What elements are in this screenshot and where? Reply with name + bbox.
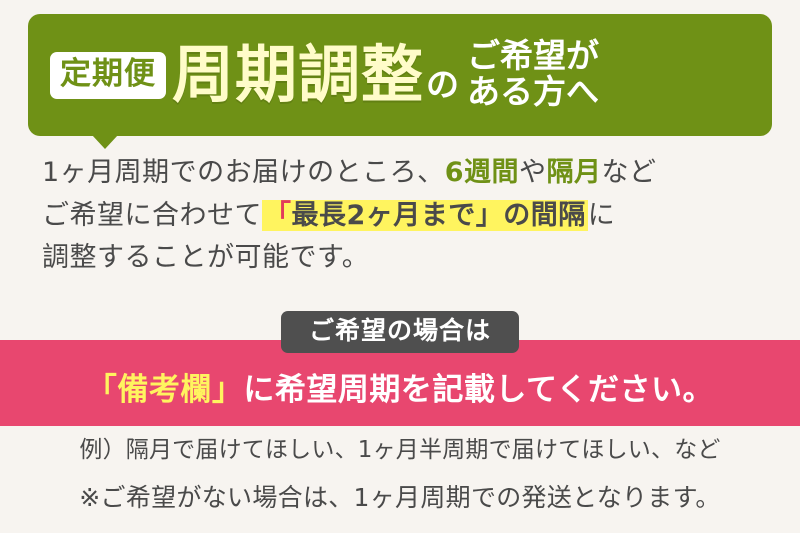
banner-subheadline-line1: ご希望が <box>467 38 599 74</box>
description-line-2: ご希望に合わせて「最長2ヶ月まで」の間隔に <box>42 195 772 238</box>
quote-open-mark: 「 <box>264 200 292 231</box>
description-line-1-a: 1ヶ月周期でのお届けのところ、 <box>42 157 445 188</box>
subscription-tag: 定期便 <box>50 52 166 99</box>
description-line-3: 調整することが可能です。 <box>42 237 772 280</box>
banner-headline: 周期調整 の <box>172 44 459 106</box>
description-highlight-6weeks: 6週間 <box>445 157 519 188</box>
pink-keyword-remarks: 備考欄 <box>117 372 212 408</box>
pink-instruction-text: 「備考欄」に希望周期を記載してください。 <box>0 364 800 409</box>
description-highlight-maxinterval: 「最長2ヶ月まで」の間隔 <box>262 200 588 231</box>
header-banner: 定期便 周期調整 の ご希望が ある方へ <box>28 14 772 136</box>
pink-quote-open: 「 <box>86 372 118 408</box>
banner-pointer-icon <box>92 135 118 149</box>
promo-banner-page: 定期便 周期調整 の ご希望が ある方へ 1ヶ月周期でのお届けのところ、6週間や… <box>0 0 800 533</box>
header-banner-body: 定期便 周期調整 の ご希望が ある方へ <box>28 14 772 136</box>
description-line-1-c: など <box>601 157 656 188</box>
pink-instruction-rest: に希望周期を記載してください。 <box>243 372 714 408</box>
banner-headline-main: 周期調整 <box>172 44 424 106</box>
description-highlight-bimonthly: 隔月 <box>546 157 601 188</box>
description-line-1-b: や <box>519 157 547 188</box>
description-line-2-a: ご希望に合わせて <box>42 200 262 231</box>
max-interval-text: 最長2ヶ月まで <box>292 200 476 231</box>
quote-close-and-interval: 」の間隔 <box>476 200 586 231</box>
example-text: 例）隔月で届けてほしい、1ヶ月半周期で届けてほしい、など <box>0 430 800 464</box>
banner-headline-particle: の <box>426 68 459 106</box>
description-line-2-b: に <box>588 200 616 231</box>
request-case-pill: ご希望の場合は <box>281 311 519 353</box>
pink-quote-close: 」 <box>212 372 244 408</box>
banner-subheadline: ご希望が ある方へ <box>467 38 599 112</box>
description-paragraph: 1ヶ月周期でのお届けのところ、6週間や隔月など ご希望に合わせて「最長2ヶ月まで… <box>42 152 772 280</box>
description-line-1: 1ヶ月周期でのお届けのところ、6週間や隔月など <box>42 152 772 195</box>
note-text: ※ご希望がない場合は、1ヶ月周期での発送となります。 <box>0 478 800 514</box>
banner-subheadline-line2: ある方へ <box>467 74 599 110</box>
